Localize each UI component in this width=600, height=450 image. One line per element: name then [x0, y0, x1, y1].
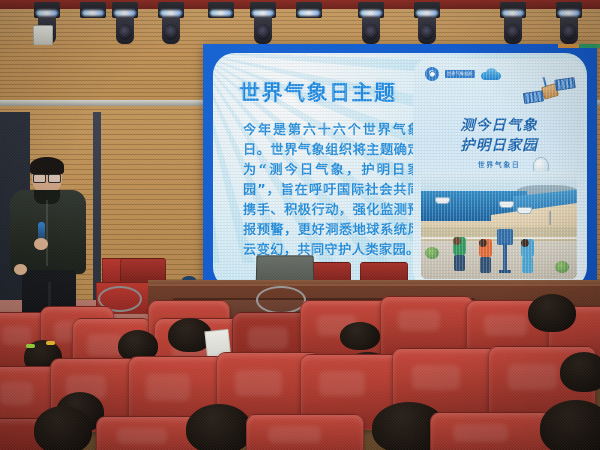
seated-student: [528, 294, 576, 332]
wmo-emblem-icon: [425, 67, 439, 81]
stage-spotlight-icon: [414, 2, 440, 48]
cloud-icon: [481, 68, 503, 80]
wall-control-box: [33, 25, 53, 45]
stage-spotlight-icon: [250, 2, 276, 48]
auditorium-seat: [246, 414, 364, 450]
stage-spotlight-icon: [158, 2, 184, 48]
seated-student: [340, 322, 380, 350]
glasses-icon: [33, 174, 61, 181]
hair-clip: [46, 341, 55, 345]
coastal-illustration: [421, 171, 577, 279]
stage-spotlight-icon: [500, 2, 526, 48]
weather-station-icon: [497, 229, 513, 273]
coiled-cable: [256, 286, 306, 314]
poster-logo-group: 世界气象组织: [425, 67, 503, 81]
illustration-observer: [479, 239, 492, 273]
stage-spotlight-icon: [556, 2, 582, 48]
seated-student: [186, 404, 252, 450]
seated-student: [34, 406, 92, 450]
seated-student: [560, 352, 600, 392]
screen-color-strip: [558, 44, 600, 48]
stage-spotlight-icon: [112, 2, 138, 48]
world-meteorological-day-poster: 世界气象组织 测今日气象 护明日家园 世界气象日: [413, 59, 585, 287]
auditorium-seat: [430, 412, 552, 450]
wmo-logo-text: 世界气象组织: [445, 70, 475, 78]
slide-title: 世界气象日主题: [239, 77, 397, 107]
stage-spotlight-icon: [358, 2, 384, 48]
stage-chair: [120, 258, 166, 282]
presenter-with-microphone: [8, 160, 94, 330]
illustration-observer: [453, 237, 466, 271]
poster-slogan-line2: 护明日家园: [413, 137, 585, 157]
poster-subtitle: 世界气象日: [413, 160, 585, 170]
slide-body-text: 今年是第六十六个世界气象日。世界气象组织将主题确定为“测今日气象，护明日家园”，…: [243, 121, 421, 261]
stage-spotlight-icon: [80, 2, 106, 48]
hair-clip: [26, 344, 35, 348]
poster-slogan: 测今日气象 护明日家园 世界气象日: [413, 117, 585, 170]
illustration-observer: [521, 239, 534, 273]
stage-spotlight-icon: [296, 2, 322, 48]
auditorium-photo: 世界气象日主题 今年是第六十六个世界气象日。世界气象组织将主题确定为“测今日气象…: [0, 0, 600, 450]
poster-slogan-line1: 测今日气象: [413, 117, 585, 137]
stage-spotlight-icon: [208, 2, 234, 48]
presentation-slide: 世界气象日主题 今年是第六十六个世界气象日。世界气象组织将主题确定为“测今日气象…: [213, 53, 587, 289]
